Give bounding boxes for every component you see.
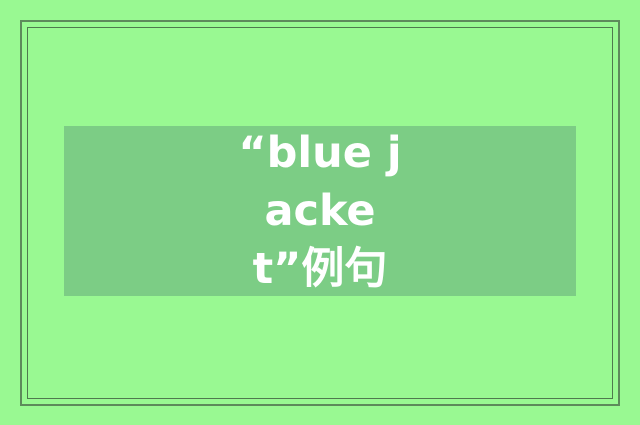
content-panel: “blue jacket”例句	[64, 126, 576, 296]
headline-text: “blue jacket”例句	[232, 124, 408, 298]
page-canvas: “blue jacket”例句	[0, 0, 640, 425]
